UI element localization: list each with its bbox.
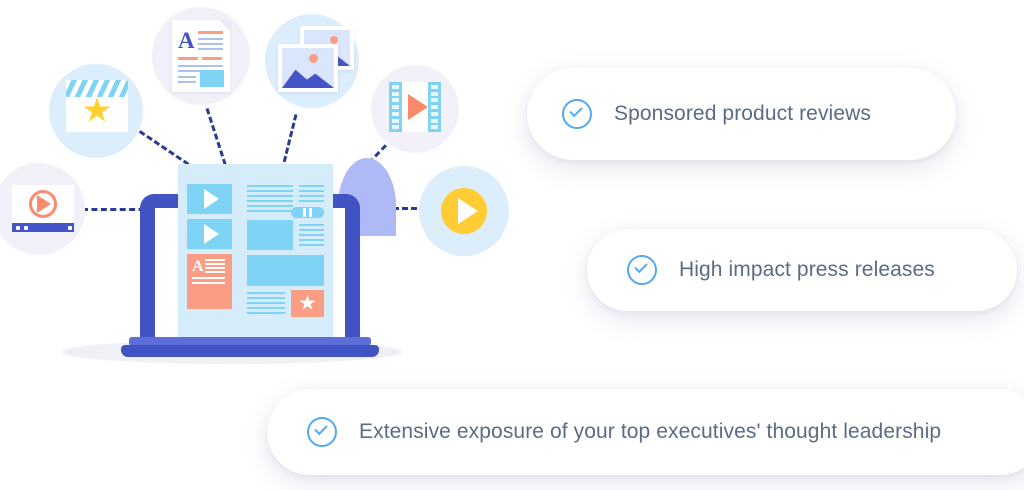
screen-text-line — [247, 312, 285, 314]
screen-article-line — [205, 271, 225, 273]
video-player-controlbar — [12, 223, 74, 232]
screen-text-line — [247, 302, 285, 304]
screen-text-line — [247, 307, 285, 309]
screen-text-line — [247, 210, 293, 212]
screen-text-line — [247, 185, 293, 187]
screen-article-line — [205, 259, 225, 261]
article-document-icon: A — [172, 20, 230, 92]
document-subtitle-line — [202, 57, 222, 60]
screen-text-line — [247, 200, 293, 202]
feature-label-thought-leadership: Extensive exposure of your top executive… — [359, 420, 941, 444]
clapperboard-star-icon — [66, 80, 128, 132]
screen-text-line — [299, 229, 324, 231]
document-text-line — [178, 81, 196, 83]
document-text-line — [198, 48, 223, 50]
film-rail-right — [428, 82, 441, 132]
screen-text-line — [247, 195, 293, 197]
screen-text-line — [299, 239, 324, 241]
check-circle-icon — [627, 255, 657, 285]
document-text-line — [178, 76, 196, 78]
play-triangle-icon — [458, 198, 478, 224]
film-strip-play-icon — [385, 78, 445, 136]
screen-text-line — [299, 190, 324, 192]
play-triangle-icon — [37, 195, 51, 213]
document-image-block — [200, 70, 224, 87]
screen-article-line — [192, 282, 225, 284]
screen-text-line — [247, 292, 285, 294]
photo-sun-shape — [309, 54, 318, 63]
screen-article-line — [205, 267, 225, 269]
clapperboard-stripes — [66, 80, 128, 97]
video-player-icon — [12, 185, 74, 233]
play-triangle-icon — [408, 94, 428, 120]
photo-sun-shape — [330, 36, 338, 44]
document-text-line — [198, 43, 223, 45]
screen-image-block — [247, 220, 293, 250]
play-triangle-icon — [204, 224, 219, 244]
screen-wide-block — [247, 255, 324, 286]
screen-text-line — [247, 297, 285, 299]
play-triangle-icon — [204, 189, 219, 209]
document-title-line — [198, 31, 223, 34]
screen-text-line — [299, 244, 324, 246]
screen-article-line — [205, 263, 225, 265]
document-folded-corner — [219, 20, 230, 31]
illustration-canvas: A — [0, 0, 1024, 490]
photo-stack-icon — [278, 26, 348, 88]
document-subtitle-line — [178, 57, 198, 60]
pause-bar-icon — [309, 208, 312, 217]
laptop-base — [121, 345, 379, 357]
pause-bar-icon — [303, 208, 306, 217]
screen-text-line — [247, 190, 293, 192]
screen-text-line — [299, 200, 324, 202]
screen-text-line — [299, 224, 324, 226]
screen-text-line — [247, 205, 293, 207]
check-circle-icon — [562, 99, 592, 129]
screen-article-dropcap: A — [192, 259, 204, 275]
feature-label-press: High impact press releases — [679, 258, 935, 282]
screen-article-line — [192, 277, 225, 279]
screen-text-line — [299, 234, 324, 236]
screen-text-line — [299, 195, 324, 197]
document-dropcap-letter: A — [178, 29, 195, 52]
photo-front — [278, 44, 338, 92]
document-text-line — [178, 65, 223, 67]
feature-pill-thought-leadership[interactable]: Extensive exposure of your top executive… — [267, 389, 1024, 475]
feature-pill-press[interactable]: High impact press releases — [587, 229, 1017, 311]
laptop-media-grid-icon: A — [178, 164, 333, 342]
screen-pause-pill — [291, 207, 324, 218]
film-rail-left — [389, 82, 402, 132]
feature-pill-sponsored[interactable]: Sponsored product reviews — [527, 68, 956, 160]
check-circle-icon — [307, 417, 337, 447]
feature-label-sponsored: Sponsored product reviews — [614, 102, 871, 126]
document-text-line — [198, 38, 223, 40]
screen-text-line — [299, 185, 324, 187]
